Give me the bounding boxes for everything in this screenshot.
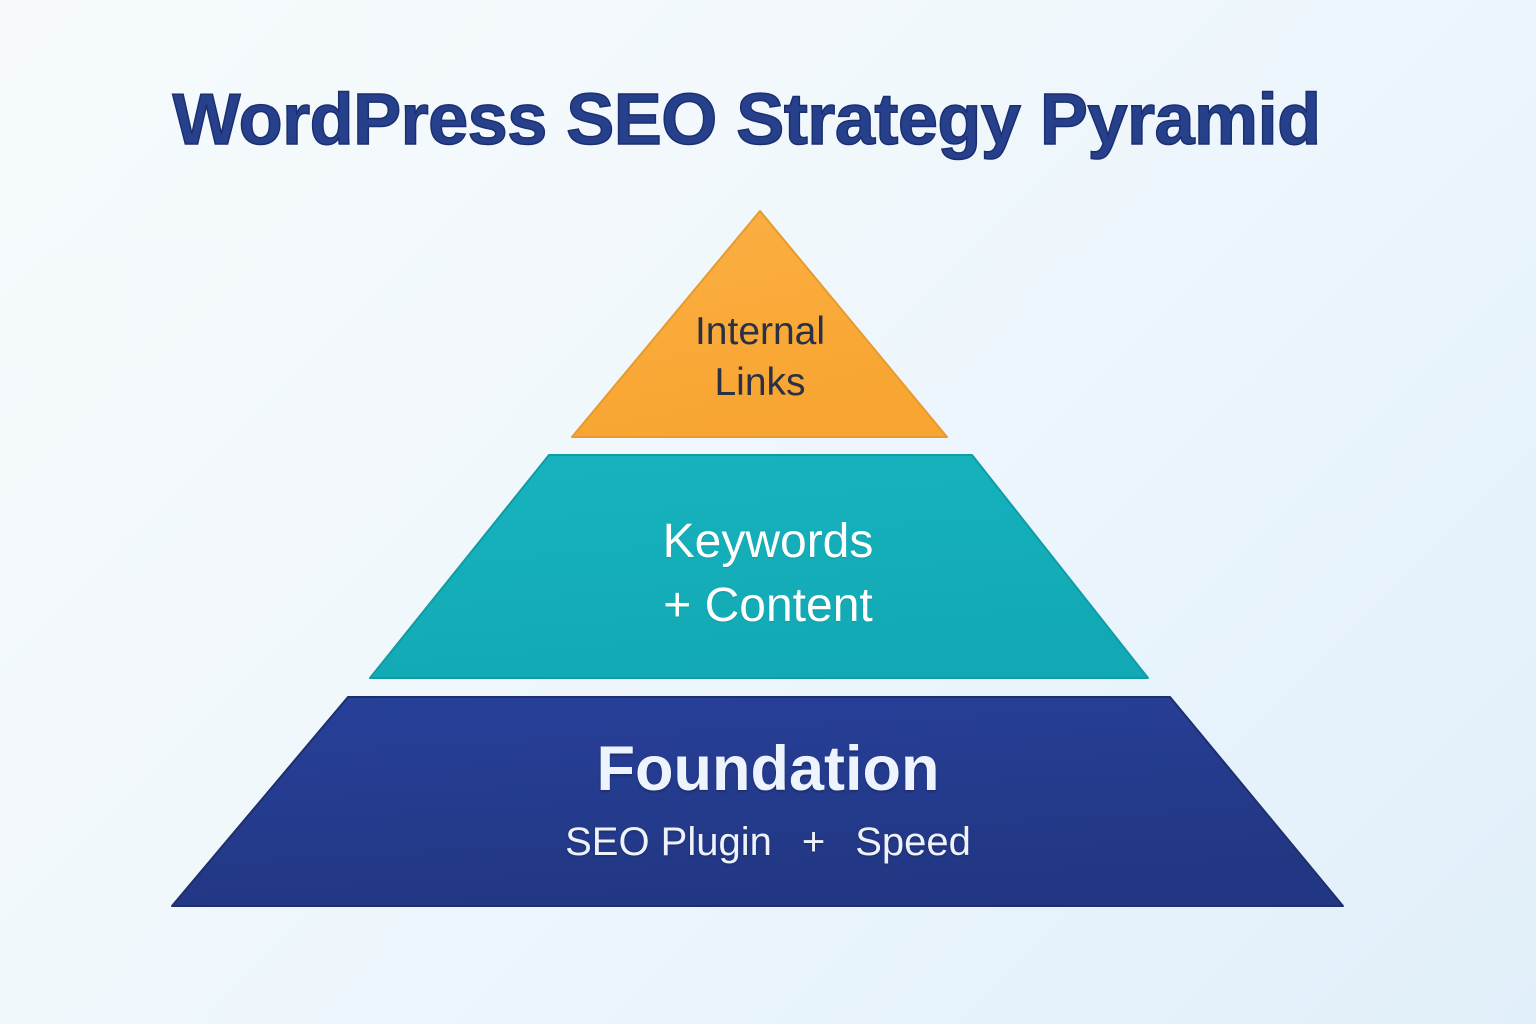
pyramid-tier-base[interactable] <box>172 697 1343 906</box>
pyramid-infographic: WordPress SEO Strategy Pyramid Internal <box>0 0 1536 1024</box>
pyramid-tier-apex[interactable] <box>572 211 947 437</box>
pyramid-tier-middle[interactable] <box>370 455 1148 678</box>
pyramid-graphic <box>0 0 1536 1024</box>
